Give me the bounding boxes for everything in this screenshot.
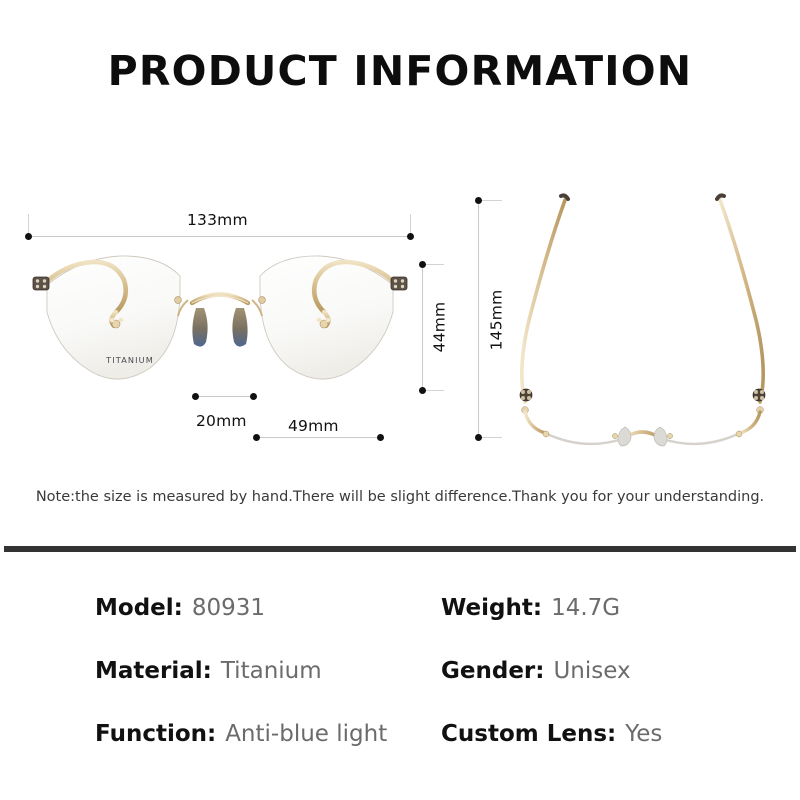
glasses-front-view-image: TITANIUM [20,250,420,400]
product-diagram-area: TITANIUM [0,0,800,535]
spec-label-gender: Gender: [441,658,544,684]
spec-label-material: Material: [95,658,212,684]
dim-dot-145-top [475,197,482,204]
spec-row-custom-lens: Custom Lens: Yes [441,721,662,747]
measurement-note: Note:the size is measured by hand.There … [0,489,800,505]
lens-brand-text: TITANIUM [105,355,154,365]
spec-row-model: Model: 80931 [95,595,265,621]
hinge-cluster-left [520,389,532,413]
dim-line-44 [422,264,423,390]
section-divider [4,546,796,552]
hinge-cluster-right [753,389,765,413]
dim-dot-145-bottom [475,434,482,441]
spec-label-model: Model: [95,595,183,621]
dim-label-20: 20mm [196,412,247,430]
spec-value-custom-lens: Yes [625,721,662,747]
spec-value-weight: 14.7G [551,595,620,621]
spec-label-weight: Weight: [441,595,542,621]
dim-dot-133-left [25,233,32,240]
dim-dot-20-left [192,393,199,400]
dim-dot-49-left [253,434,260,441]
dim-label-49: 49mm [288,417,339,435]
dim-dot-133-right [407,233,414,240]
hinge-left [33,277,49,290]
dim-tick-133-left [28,214,29,234]
spec-label-function: Function: [95,721,216,747]
dim-line-133 [28,236,410,237]
dim-dot-44-top [419,261,426,268]
dim-tick-133-right [410,214,411,234]
glasses-top-view-image [495,190,790,450]
spec-value-model: 80931 [192,595,265,621]
spec-value-function: Anti-blue light [225,721,387,747]
dim-line-49 [256,437,380,438]
spec-row-function: Function: Anti-blue light [95,721,387,747]
dim-label-145: 145mm [487,290,505,351]
dim-line-145 [478,200,479,437]
spec-row-weight: Weight: 14.7G [441,595,620,621]
dim-dot-44-bottom [419,387,426,394]
hinge-right [391,277,407,290]
spec-row-gender: Gender: Unisex [441,658,631,684]
product-spec-table: Model: 80931 Material: Titanium Function… [0,575,800,800]
dim-line-20 [195,396,253,397]
dim-dot-49-right [377,434,384,441]
dim-label-133: 133mm [187,211,248,229]
spec-row-material: Material: Titanium [95,658,322,684]
dim-label-44: 44mm [430,302,448,353]
spec-value-material: Titanium [221,658,322,684]
spec-label-custom-lens: Custom Lens: [441,721,616,747]
spec-value-gender: Unisex [553,658,630,684]
dim-dot-20-right [250,393,257,400]
